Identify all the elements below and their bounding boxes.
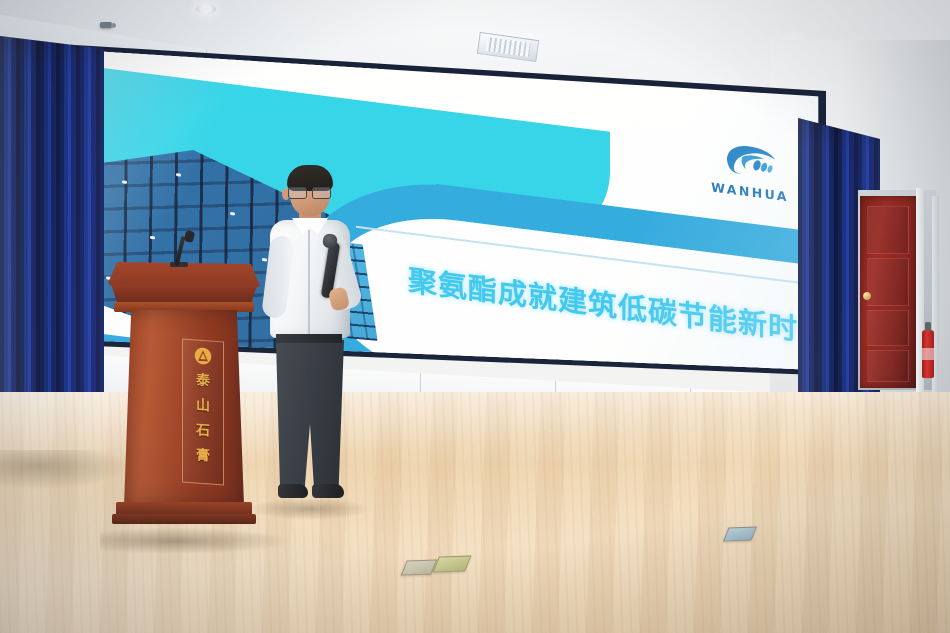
speaker-person (268, 168, 360, 508)
podium-top-edge (108, 284, 260, 304)
podium-brand-plaque: 泰 山 石 膏 (182, 339, 224, 486)
podium-plinth (112, 514, 256, 524)
podium-brand-text: 泰 山 石 膏 (183, 368, 223, 471)
speaker-shoe (312, 484, 344, 498)
taishan-mountain-logo-icon (194, 346, 212, 365)
speaker-shoe (278, 484, 308, 498)
podium-char: 山 (183, 393, 223, 421)
downlight-icon (196, 4, 216, 14)
speaker-belt (276, 334, 342, 343)
wanhua-wave-logo-icon (721, 140, 779, 181)
track-spotlight-icon (100, 22, 112, 28)
door-handle-icon[interactable] (863, 292, 871, 300)
presentation-photo: 聚氨酯成就建筑低碳节能新时代 WANHUA 万华化学集团股份有限公司 www.w… (0, 0, 950, 633)
podium-char: 石 (183, 418, 223, 446)
curtain-floor-shadow (0, 450, 130, 490)
podium-char: 泰 (183, 368, 223, 396)
speaker-shirt-placket (308, 230, 310, 334)
red-door[interactable] (860, 196, 916, 388)
speaker-glasses-icon (288, 187, 332, 197)
podium: 泰 山 石 膏 (120, 262, 248, 539)
speaker-trousers (276, 340, 344, 490)
fire-extinguisher-icon (922, 330, 934, 378)
podium-char: 膏 (183, 443, 223, 471)
